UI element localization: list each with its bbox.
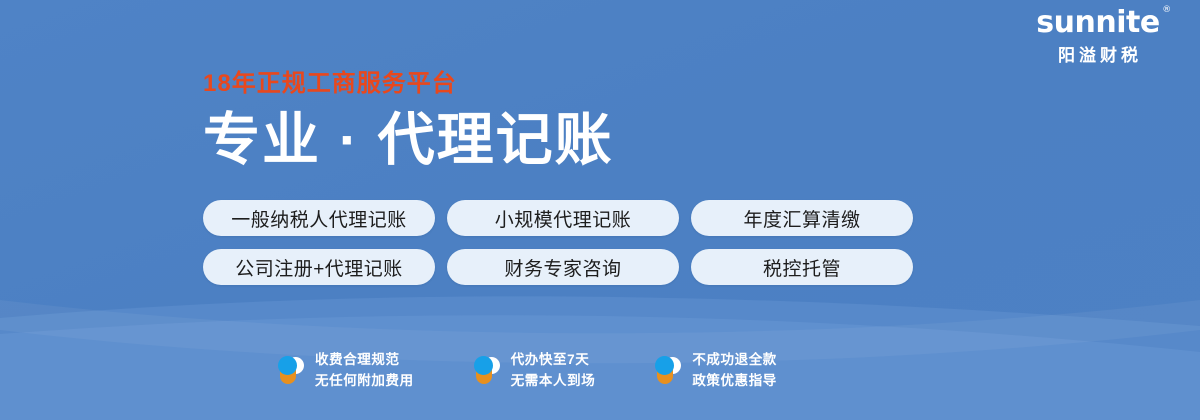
feature-line-1: 不成功退全款 <box>692 352 777 367</box>
logo-wordmark: sunnite ® <box>1036 8 1159 38</box>
hero-tagline: 18年正规工商服务平台 <box>203 72 614 96</box>
two-tone-circle-icon <box>472 354 502 387</box>
feature-line-2: 政策优惠指导 <box>692 373 777 388</box>
service-pill[interactable]: 财务专家咨询 <box>447 249 679 285</box>
feature-item: 代办快至7天 无需本人到场 <box>472 350 596 392</box>
logo-chinese-name: 阳溢财税 <box>1014 47 1182 64</box>
icon-blue-circle <box>474 356 493 375</box>
feature-line-1: 代办快至7天 <box>511 352 590 367</box>
service-pill[interactable]: 小规模代理记账 <box>447 200 679 236</box>
two-tone-circle-icon <box>276 354 306 387</box>
feature-line-2: 无任何附加费用 <box>315 373 414 388</box>
brand-logo[interactable]: sunnite ® 阳溢财税 <box>1014 8 1182 64</box>
service-pill[interactable]: 公司注册+代理记账 <box>203 249 435 285</box>
service-pill[interactable]: 税控托管 <box>691 249 913 285</box>
service-pill-grid: 一般纳税人代理记账 小规模代理记账 年度汇算清缴 公司注册+代理记账 财务专家咨… <box>203 200 913 285</box>
two-tone-circle-icon <box>653 354 683 387</box>
registered-trademark-icon: ® <box>1162 6 1171 15</box>
promo-banner: sunnite ® 阳溢财税 18年正规工商服务平台 专业 · 代理记账 一般纳… <box>0 0 1200 420</box>
service-pill[interactable]: 一般纳税人代理记账 <box>203 200 435 236</box>
logo-wordmark-text: sunnite <box>1036 5 1159 40</box>
feature-item: 收费合理规范 无任何附加费用 <box>276 350 414 392</box>
feature-list: 收费合理规范 无任何附加费用 代办快至7天 无需本人到场 不成功退全款 <box>276 350 777 392</box>
hero-text-block: 18年正规工商服务平台 专业 · 代理记账 <box>203 72 614 172</box>
hero-headline: 专业 · 代理记账 <box>203 110 614 172</box>
feature-text: 不成功退全款 政策优惠指导 <box>692 350 777 392</box>
feature-line-2: 无需本人到场 <box>511 373 596 388</box>
service-pill[interactable]: 年度汇算清缴 <box>691 200 913 236</box>
feature-line-1: 收费合理规范 <box>315 352 400 367</box>
feature-text: 收费合理规范 无任何附加费用 <box>315 350 414 392</box>
feature-item: 不成功退全款 政策优惠指导 <box>653 350 777 392</box>
feature-text: 代办快至7天 无需本人到场 <box>511 350 596 392</box>
